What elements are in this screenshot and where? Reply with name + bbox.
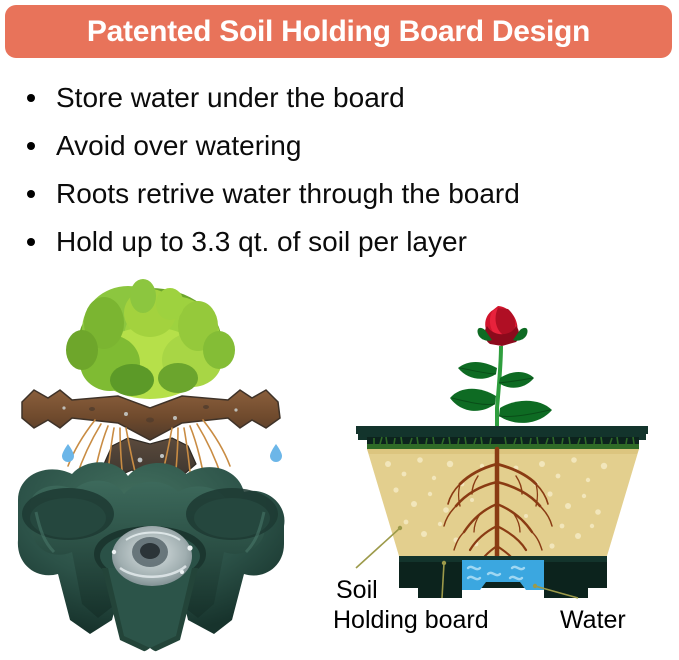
rose-flower-icon xyxy=(477,306,527,346)
leader-dot-soil xyxy=(398,526,402,530)
label-water: Water xyxy=(560,606,626,634)
product-photo xyxy=(0,268,340,660)
list-item: Roots retrive water through the board xyxy=(24,170,664,218)
pot-rim xyxy=(356,426,648,446)
product-photo-graphic xyxy=(0,268,340,660)
list-item: Store water under the board xyxy=(24,74,664,122)
label-soil: Soil xyxy=(336,576,378,604)
list-item-label: Store water under the board xyxy=(56,82,405,113)
page-title: Patented Soil Holding Board Design xyxy=(87,17,590,47)
leader-line-soil xyxy=(356,528,400,568)
feature-list: Store water under the board Avoid over w… xyxy=(24,74,664,266)
leader-dot-holding-board xyxy=(442,561,446,565)
header-banner: Patented Soil Holding Board Design xyxy=(5,5,672,58)
list-item: Hold up to 3.3 qt. of soil per layer xyxy=(24,218,664,266)
list-item-label: Hold up to 3.3 qt. of soil per layer xyxy=(56,226,467,257)
bullet-icon xyxy=(27,190,35,198)
cross-section-diagram: Soil Holding board Water xyxy=(330,268,679,660)
water-splash xyxy=(112,526,193,586)
bullet-icon xyxy=(27,94,35,102)
illustration-area: Soil Holding board Water xyxy=(0,268,679,660)
bullet-icon xyxy=(27,238,35,246)
label-holding-board: Holding board xyxy=(333,606,489,634)
plant-stem-leaves xyxy=(450,346,552,430)
list-item-label: Roots retrive water through the board xyxy=(56,178,520,209)
list-item: Avoid over watering xyxy=(24,122,664,170)
list-item-label: Avoid over watering xyxy=(56,130,301,161)
leader-dot-water xyxy=(533,584,537,588)
plant-foliage xyxy=(66,279,235,399)
cross-section-graphic: Soil Holding board Water xyxy=(330,268,679,660)
bullet-icon xyxy=(27,142,35,150)
